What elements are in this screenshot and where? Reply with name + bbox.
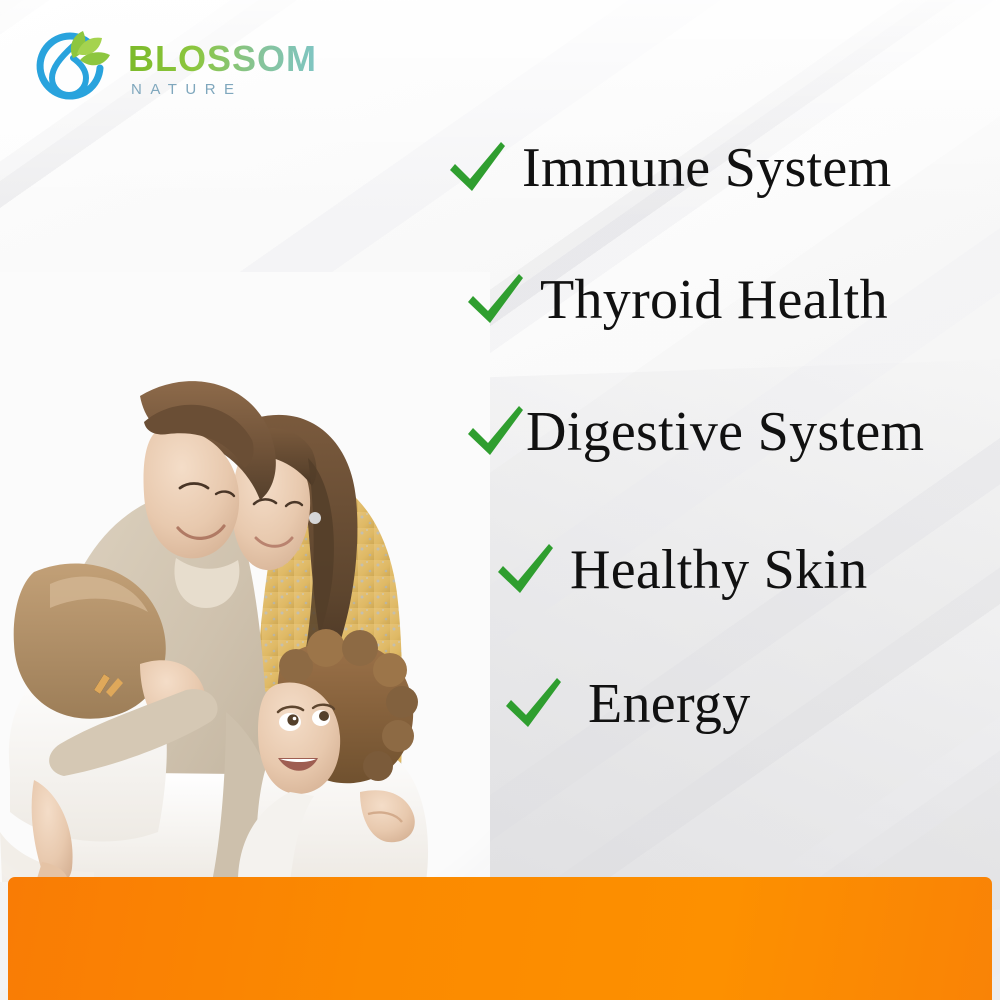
benefit-label: Thyroid Health (540, 268, 888, 332)
benefit-label: Energy (588, 672, 751, 736)
family-hugging-photo (0, 272, 490, 882)
green-check-icon (464, 404, 526, 460)
green-check-icon (494, 542, 556, 598)
benefit-item-energy[interactable]: Energy (502, 672, 751, 736)
benefit-label: Healthy Skin (570, 538, 868, 602)
benefit-item-immune-system[interactable]: Immune System (446, 136, 891, 200)
green-check-icon (464, 272, 526, 328)
green-check-icon (502, 676, 564, 732)
brand-wordmark: BLOSSOM NATURE (128, 41, 317, 97)
benefit-item-thyroid-health[interactable]: Thyroid Health (464, 268, 888, 332)
benefit-label: Digestive System (526, 400, 924, 464)
benefit-item-healthy-skin[interactable]: Healthy Skin (494, 538, 868, 602)
promo-poster: BLOSSOM NATURE (0, 0, 1000, 1000)
benefits-list: Immune System Thyroid Health Digestive S… (440, 120, 1000, 800)
brand-name: BLOSSOM (128, 41, 317, 77)
benefit-label: Immune System (522, 136, 891, 200)
benefit-item-digestive-system[interactable]: Digestive System (464, 400, 924, 464)
green-check-icon (446, 140, 508, 196)
brand-tagline: NATURE (131, 82, 317, 97)
water-drop-leaf-logo-icon (26, 28, 118, 110)
brand-logo[interactable]: BLOSSOM NATURE (26, 28, 317, 110)
orange-footer-bar (8, 877, 992, 1000)
